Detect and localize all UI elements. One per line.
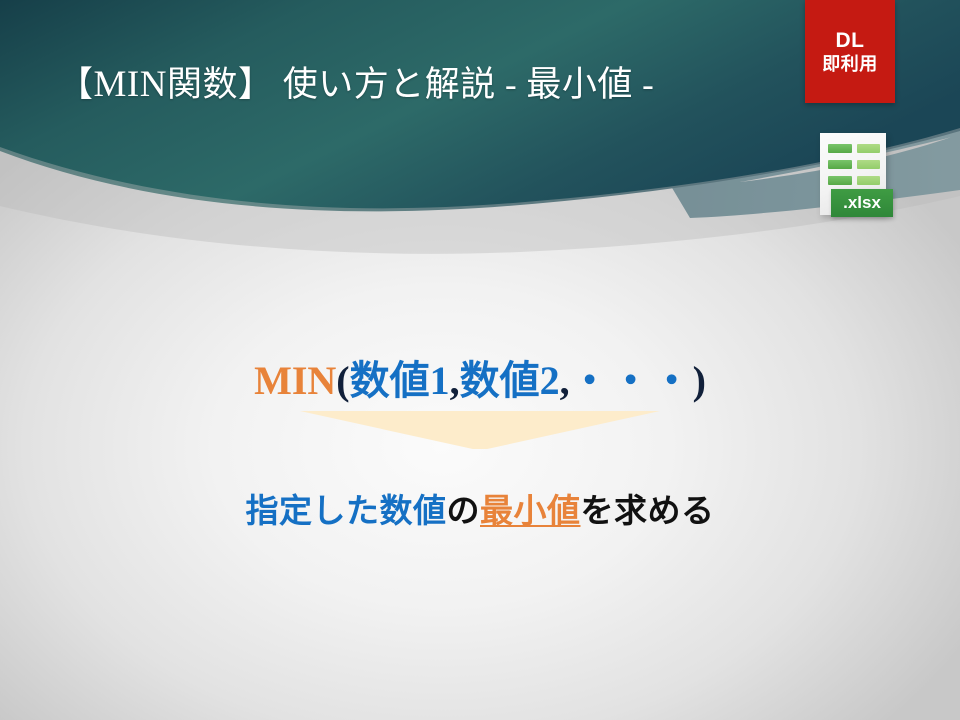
caption-part-highlighted: 最小値: [480, 492, 581, 529]
formula-paren-open: (: [336, 358, 349, 403]
xlsx-file-icon[interactable]: .xlsx: [818, 131, 894, 221]
formula-paren-close: ): [693, 358, 706, 403]
formula-arg1: 数値1: [350, 358, 450, 403]
xlsx-cell: [857, 160, 881, 169]
xlsx-cell: [857, 144, 881, 153]
xlsx-extension-label: .xlsx: [831, 189, 893, 217]
title-kanji: 関数: [167, 65, 238, 104]
dl-badge-line1: DL: [836, 29, 865, 52]
slide-canvas: 【MIN関数】 使い方と解説 - 最小値 - DL 即利用 .xlsx MIN(…: [0, 0, 960, 720]
title-bracket-open: 【: [58, 65, 94, 104]
title-function-name: MIN: [94, 64, 167, 105]
caption-part-particle: の: [447, 492, 481, 529]
xlsx-cell: [828, 160, 852, 169]
caption-part-target: 指定した数値: [246, 492, 447, 529]
xlsx-cell: [828, 176, 852, 185]
formula-ellipsis: ・・・: [570, 358, 693, 403]
formula-function-name: MIN: [254, 358, 336, 403]
formula-arg2: 数値2: [460, 358, 560, 403]
dl-badge[interactable]: DL 即利用: [805, 0, 895, 103]
title-subtitle: 使い方と解説 - 最小値 -: [283, 65, 655, 104]
xlsx-cell-grid: [828, 144, 880, 185]
caption-part-verb: を求める: [581, 492, 715, 529]
formula-comma-2: ,: [560, 358, 570, 403]
page-title: 【MIN関数】 使い方と解説 - 最小値 -: [58, 62, 654, 108]
formula-syntax: MIN(数値1,数値2,・・・): [0, 348, 960, 406]
description-caption: 指定した数値の最小値を求める: [0, 484, 960, 532]
xlsx-cell: [828, 144, 852, 153]
dl-badge-line2: 即利用: [822, 54, 878, 75]
formula-comma-1: ,: [450, 358, 460, 403]
title-bracket-close: 】: [238, 65, 274, 104]
xlsx-cell: [857, 176, 881, 185]
